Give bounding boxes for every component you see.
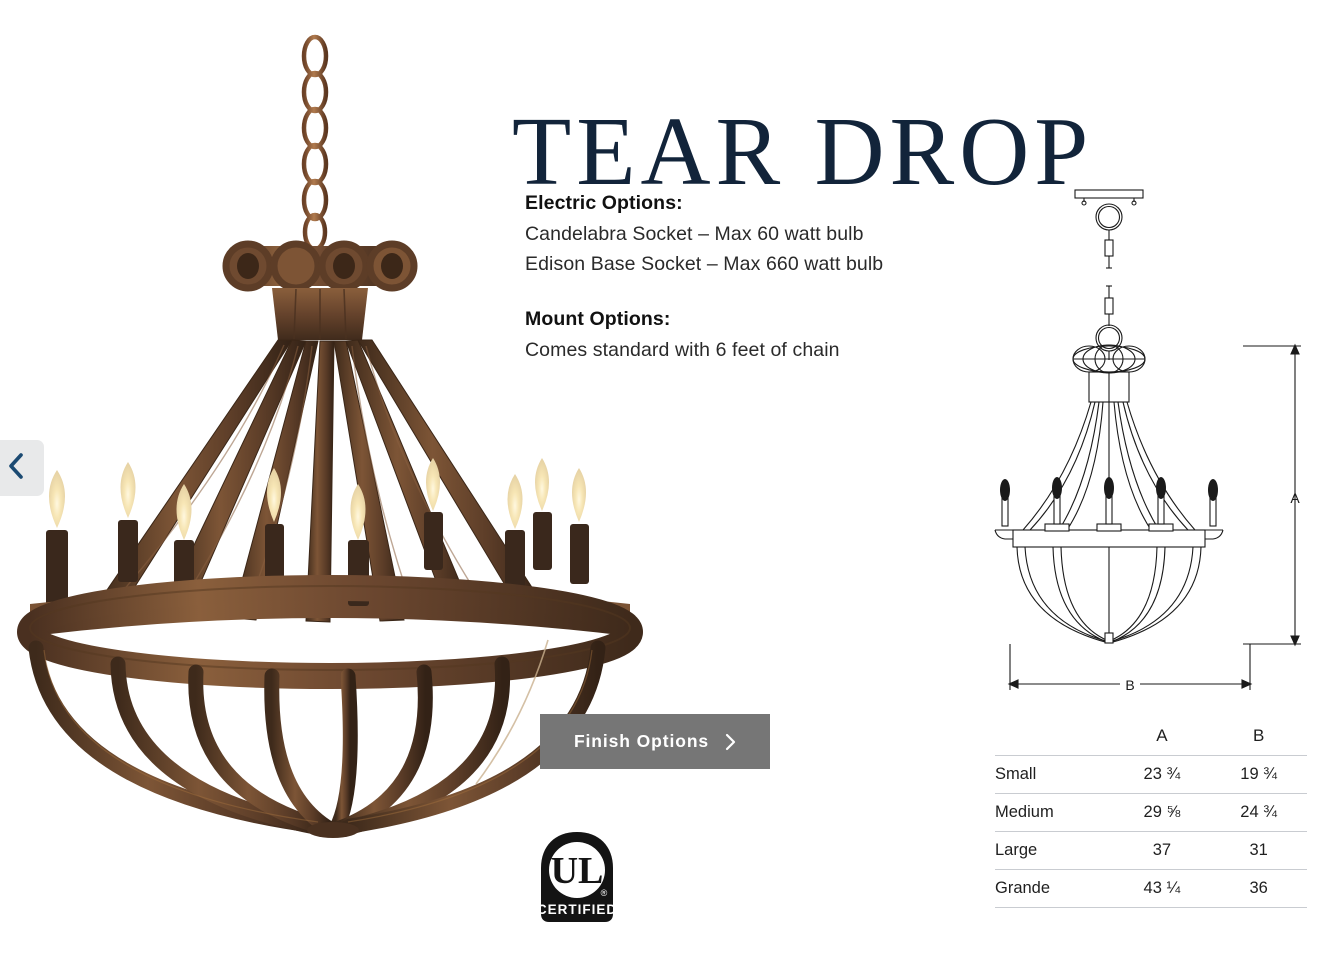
column-header-b: B [1210,726,1307,756]
table-row: Grande 43 ¼ 36 [995,870,1307,908]
value-a: 43 ¼ [1114,870,1211,908]
mount-option-1: Comes standard with 6 feet of chain [525,336,985,366]
size-label: Small [995,756,1114,794]
spacer [525,279,985,308]
ul-certified-logo: UL ® CERTIFIED [537,830,617,925]
size-label: Medium [995,794,1114,832]
size-label: Grande [995,870,1114,908]
registered-symbol: ® [601,888,608,898]
value-b: 36 [1210,870,1307,908]
value-a: 23 ¾ [1114,756,1211,794]
table-header-row: A B [995,726,1307,756]
ul-initials: UL [551,850,604,892]
value-b: 24 ¾ [1210,794,1307,832]
value-b: 19 ¾ [1210,756,1307,794]
value-a: 37 [1114,832,1211,870]
dimension-b-label: B [1125,677,1134,693]
chandelier-crown-photo [226,244,414,340]
table-row: Large 37 31 [995,832,1307,870]
column-header-size [995,726,1114,756]
electric-option-1: Candelabra Socket – Max 60 watt bulb [525,220,985,250]
chevron-right-icon [725,733,736,751]
table-row: Small 23 ¾ 19 ¾ [995,756,1307,794]
finish-options-label: Finish Options [574,731,709,752]
size-label: Large [995,832,1114,870]
drawing-candles [1002,496,1216,526]
mount-options-heading: Mount Options: [525,308,985,331]
value-a: 29 ⅝ [1114,794,1211,832]
table-row: Medium 29 ⅝ 24 ¾ [995,794,1307,832]
electric-option-2: Edison Base Socket – Max 660 watt bulb [525,250,985,280]
finish-options-button[interactable]: Finish Options [540,714,770,769]
dimensions-table: A B Small 23 ¾ 19 ¾ Medium 29 ⅝ 24 ¾ Lar… [995,726,1307,908]
chandelier-chain-photo [304,37,326,249]
ul-caption: CERTIFIED [537,902,617,917]
product-specifications: Electric Options: Candelabra Socket – Ma… [525,192,985,366]
value-b: 31 [1210,832,1307,870]
column-header-a: A [1114,726,1211,756]
electric-options-heading: Electric Options: [525,192,985,215]
technical-drawing: A B [985,178,1325,708]
dimension-a-label: A [1290,490,1300,506]
